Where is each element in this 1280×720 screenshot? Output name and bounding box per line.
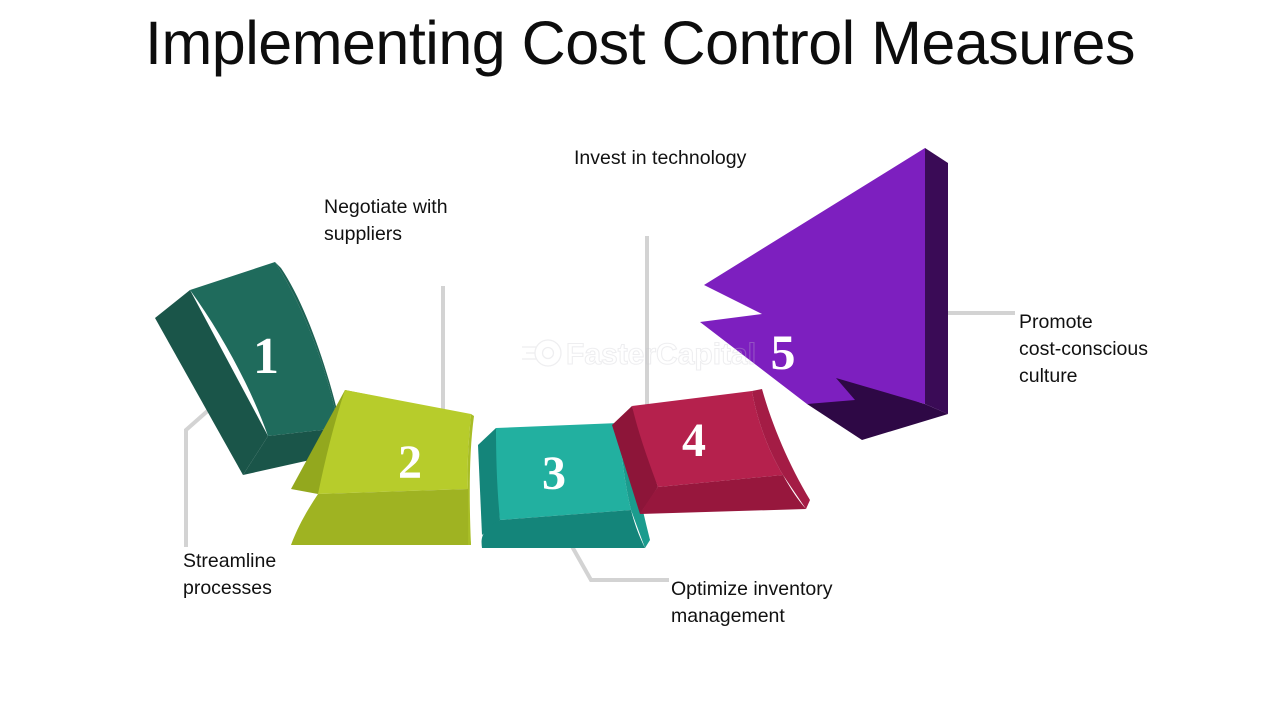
step-3-number: 3 — [542, 447, 566, 500]
callout-label-step-3: Optimize inventory management — [671, 576, 901, 630]
step-2-front-face — [318, 390, 471, 494]
slide-canvas: Implementing Cost Control Measures 1 2 — [0, 0, 1280, 720]
callout-label-step-4: Invest in technology — [574, 145, 834, 172]
callout-label-step-5: Promote cost-conscious culture — [1019, 309, 1219, 390]
step-4-number: 4 — [682, 414, 706, 467]
step-5-number: 5 — [771, 324, 796, 380]
step-1-number: 1 — [253, 328, 279, 385]
callout-label-step-2: Negotiate with suppliers — [324, 194, 534, 248]
step-2-number: 2 — [398, 436, 422, 489]
step-5-arrow-face — [700, 148, 925, 404]
step-2-bottom-face — [291, 489, 471, 545]
step-block-4[interactable]: 4 — [612, 389, 810, 514]
step-5-shadow-face — [925, 148, 948, 414]
callout-label-step-1: Streamline processes — [183, 548, 383, 602]
